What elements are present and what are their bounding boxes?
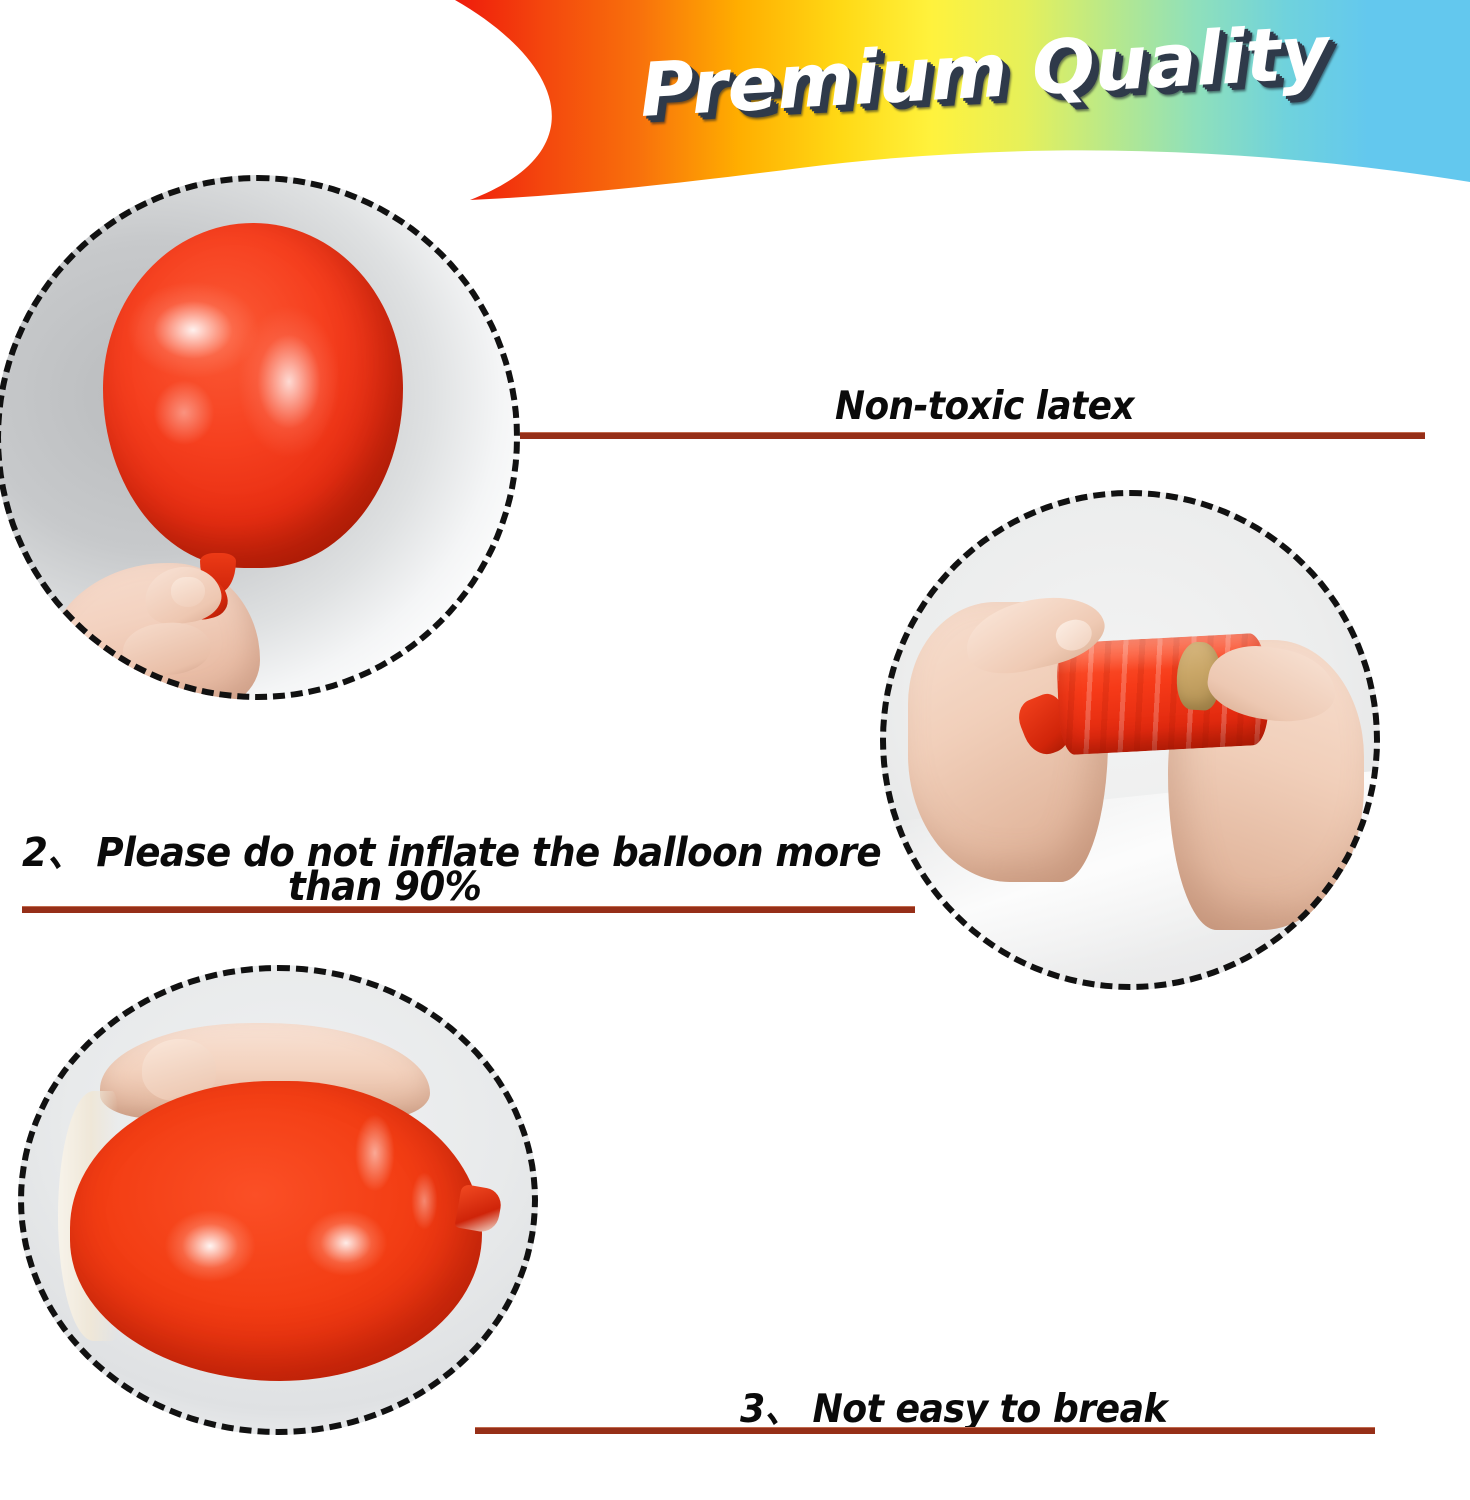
feature-label-not-easy-to-break: 3、 Not easy to break bbox=[740, 1378, 1167, 1434]
photo-pressing-balloon bbox=[18, 965, 538, 1435]
red-balloon-shape bbox=[103, 223, 403, 568]
photo-pressing-balloon-image bbox=[18, 965, 538, 1435]
feature-rule-2 bbox=[22, 906, 915, 913]
photo-stretching-balloon-image bbox=[880, 490, 1380, 990]
photo-inflated-balloon-image bbox=[0, 175, 520, 700]
feature-label-non-toxic-latex: Non-toxic latex bbox=[835, 384, 1134, 429]
feature-label-do-not-overinflate-line2: than 90% bbox=[288, 864, 481, 910]
feature-rule-3 bbox=[475, 1427, 1375, 1434]
photo-stretching-balloon bbox=[880, 490, 1380, 990]
photo-inflated-balloon bbox=[0, 175, 520, 700]
feature-rule-1 bbox=[520, 432, 1425, 439]
squashed-balloon-shape bbox=[70, 1081, 482, 1381]
thumbnail-shape bbox=[171, 577, 205, 607]
product-infographic: Premium Quality bbox=[0, 0, 1470, 1500]
